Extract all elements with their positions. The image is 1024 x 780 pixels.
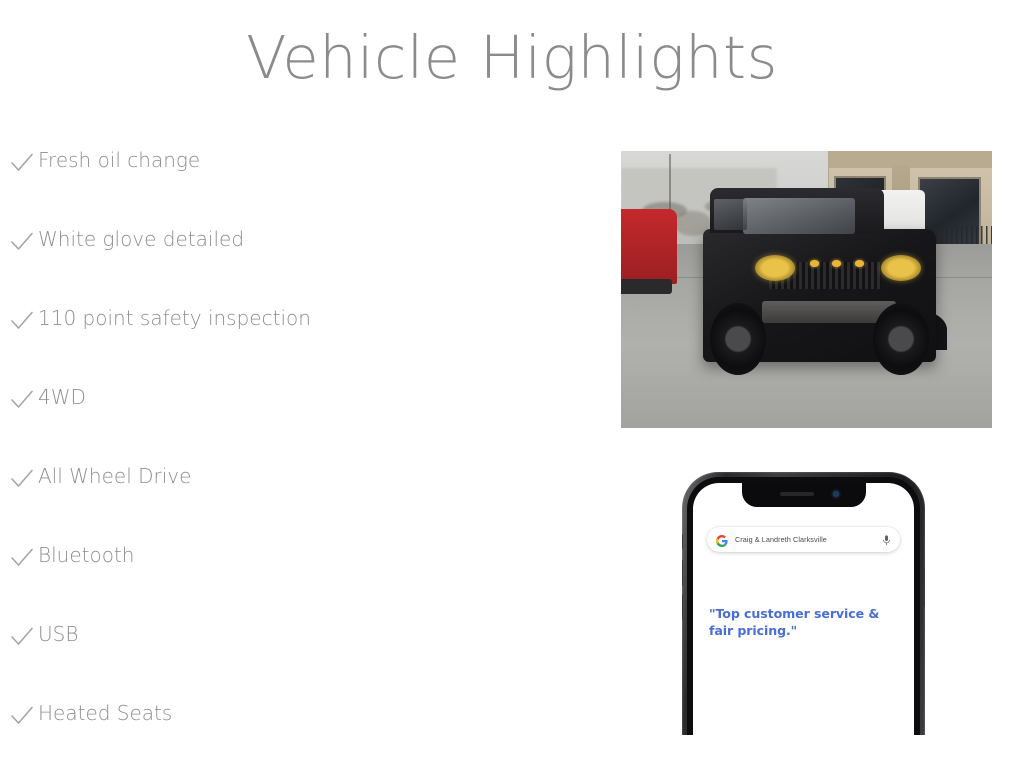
vehicle-photo: [621, 151, 992, 428]
list-item: 110 point safety inspection: [0, 306, 580, 385]
check-icon: [10, 310, 34, 332]
phone-screen: Craig & Landreth Clarksville "Top custom…: [693, 483, 914, 735]
check-icon: [10, 231, 34, 253]
check-icon: [10, 152, 34, 174]
vehicle-highlights-list: Fresh oil change White glove detailed 11…: [0, 148, 580, 780]
list-item: 4WD: [0, 385, 580, 464]
grille-amber-light-2: [832, 260, 841, 266]
bronco-bumper: [762, 301, 896, 323]
phone-mute-switch: [682, 534, 683, 549]
list-item: All Wheel Drive: [0, 464, 580, 543]
list-item: White glove detailed: [0, 227, 580, 306]
check-icon: [10, 389, 34, 411]
phone-volume-down-button: [682, 594, 683, 620]
front-camera-icon: [833, 491, 839, 497]
phone-frame: Craig & Landreth Clarksville "Top custom…: [682, 472, 925, 735]
phone-mockup: Craig & Landreth Clarksville "Top custom…: [682, 472, 925, 735]
grille-amber-light-3: [855, 260, 864, 266]
list-item-label: USB: [34, 622, 78, 646]
list-item: USB: [0, 622, 580, 701]
check-icon: [10, 547, 34, 569]
phone-notch: [742, 483, 866, 507]
search-input[interactable]: Craig & Landreth Clarksville: [735, 535, 875, 544]
check-icon: [10, 468, 34, 490]
bronco-windshield: [743, 198, 854, 234]
wheel-rear: [710, 303, 766, 375]
list-item-label: 4WD: [34, 385, 86, 409]
wheel-front: [873, 303, 929, 375]
phone-volume-up-button: [682, 560, 683, 586]
earpiece-speaker-icon: [780, 492, 814, 496]
list-item-label: Bluetooth: [34, 543, 134, 567]
microphone-icon[interactable]: [882, 534, 891, 546]
google-g-icon: [716, 534, 728, 546]
page-title: Vehicle Highlights: [0, 22, 1024, 94]
check-icon: [10, 626, 34, 648]
check-icon: [10, 705, 34, 727]
list-item: Heated Seats: [0, 701, 580, 780]
list-item-label: Heated Seats: [34, 701, 172, 725]
list-item-label: All Wheel Drive: [34, 464, 191, 488]
grille-amber-light-1: [810, 260, 819, 266]
bronco-side-window: [714, 199, 747, 229]
search-bar[interactable]: Craig & Landreth Clarksville: [707, 527, 900, 552]
red-pickup-truck: [621, 209, 677, 284]
list-item-label: White glove detailed: [34, 227, 244, 251]
list-item: Bluetooth: [0, 543, 580, 622]
phone-power-button: [924, 568, 925, 606]
list-item-label: 110 point safety inspection: [34, 306, 311, 330]
review-quote: "Top customer service & fair pricing.": [709, 605, 900, 639]
list-item: Fresh oil change: [0, 148, 580, 227]
list-item-label: Fresh oil change: [34, 148, 200, 172]
